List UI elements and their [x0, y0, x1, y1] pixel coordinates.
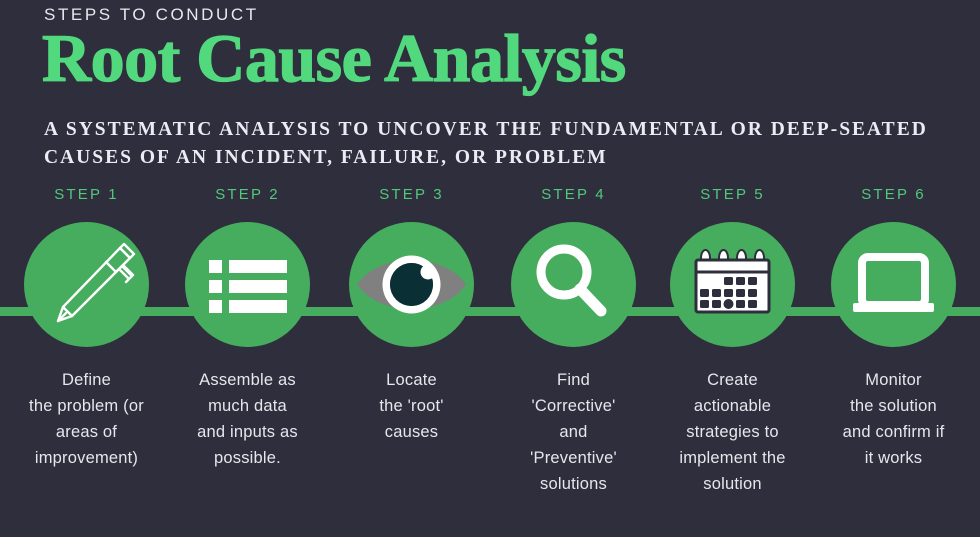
step-label-5: STEP 5 [651, 186, 814, 208]
step-icon-circle-5 [670, 222, 795, 347]
step-caption-6: Monitorthe solutionand confirm ifit work… [812, 367, 975, 471]
pen-icon [24, 222, 149, 347]
step-caption-1: Definethe problem (orareas ofimprovement… [5, 367, 168, 471]
step-item-6[interactable]: STEP 6 Monitorthe solutionand confirm if… [812, 186, 975, 471]
calendar-icon [670, 222, 795, 347]
step-caption-4: Find'Corrective'and'Preventive'solutions [492, 367, 655, 497]
step-caption-3: Locatethe 'root'causes [330, 367, 493, 445]
step-label-3: STEP 3 [330, 186, 493, 208]
bullet-list-icon [185, 222, 310, 347]
step-caption-5: Createactionablestrategies toimplement t… [651, 367, 814, 497]
step-label-6: STEP 6 [812, 186, 975, 208]
step-icon-circle-6 [831, 222, 956, 347]
step-icon-circle-4 [511, 222, 636, 347]
step-item-2[interactable]: STEP 2 Assemble asmuch dataand inputs as… [166, 186, 329, 471]
magnifying-glass-icon [511, 222, 636, 347]
step-icon-circle-2 [185, 222, 310, 347]
steps-row: STEP 1 Definethe problem (orareas of [0, 0, 980, 537]
step-item-4[interactable]: STEP 4 Find'Corrective'and'Preventive'so… [492, 186, 655, 497]
step-icon-circle-1 [24, 222, 149, 347]
step-item-3[interactable]: STEP 3 Locatethe 'root'causes [330, 186, 493, 445]
step-caption-2: Assemble asmuch dataand inputs aspossibl… [166, 367, 329, 471]
step-label-1: STEP 1 [5, 186, 168, 208]
step-label-2: STEP 2 [166, 186, 329, 208]
infographic-root: STEPS TO CONDUCT Root Cause Analysis A s… [0, 0, 980, 537]
step-item-1[interactable]: STEP 1 Definethe problem (orareas of [5, 186, 168, 471]
step-label-4: STEP 4 [492, 186, 655, 208]
eye-icon [349, 222, 474, 347]
step-icon-circle-3 [349, 222, 474, 347]
laptop-icon [831, 222, 956, 347]
step-item-5[interactable]: STEP 5 [651, 186, 814, 497]
